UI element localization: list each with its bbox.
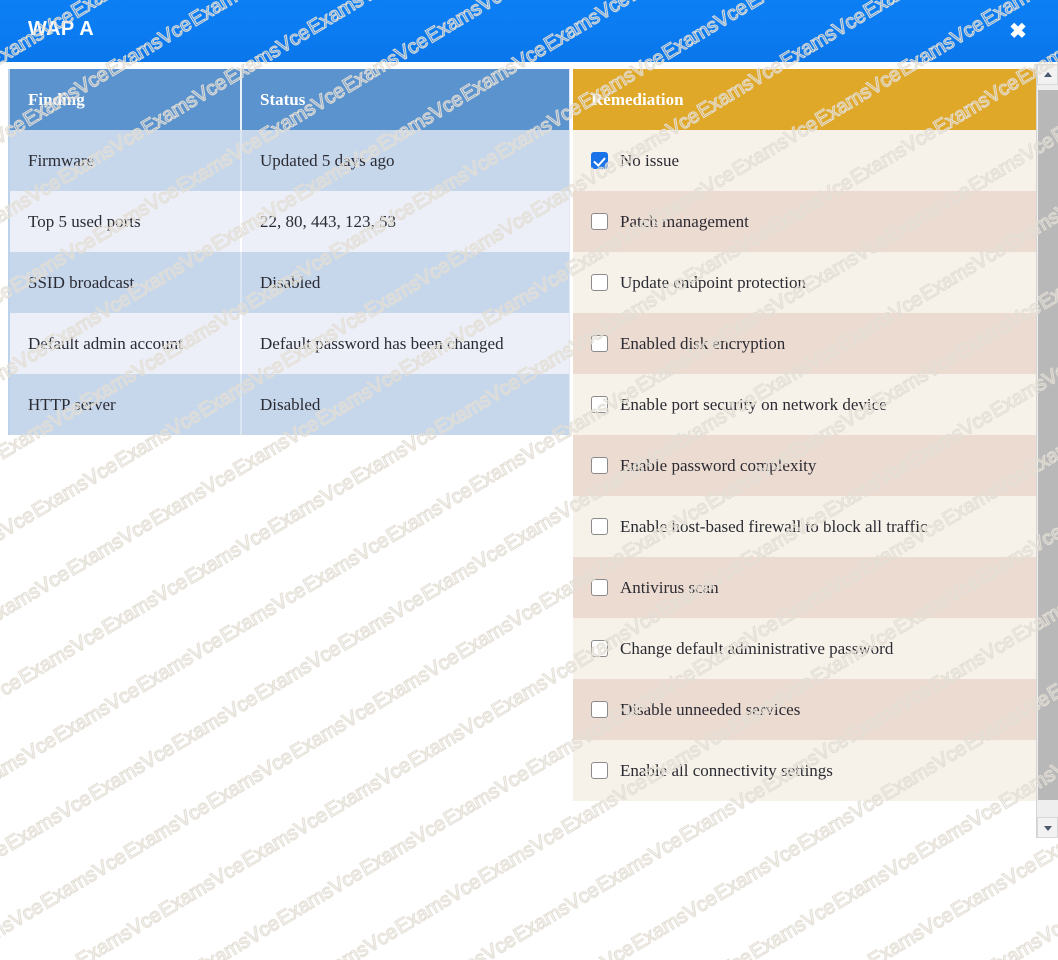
chevron-down-icon [1044, 826, 1052, 831]
findings-table-header-row: Finding Status [10, 69, 569, 130]
table-row: SSID broadcastDisabled [10, 252, 569, 313]
remediation-option-row[interactable]: Update endpoint protection [573, 252, 1036, 313]
remediation-checkbox[interactable] [591, 457, 608, 474]
remediation-option-row[interactable]: Patch management [573, 191, 1036, 252]
remediation-checkbox[interactable] [591, 396, 608, 413]
finding-cell: HTTP server [10, 374, 242, 435]
remediation-option-row[interactable]: No issue [573, 130, 1036, 191]
chevron-up-icon [1044, 72, 1052, 77]
status-cell: Disabled [242, 374, 569, 435]
table-row: Top 5 used ports22, 80, 443, 123, 53 [10, 191, 569, 252]
dialog-titlebar: WAP A ✖ [0, 0, 1058, 62]
findings-table-body: FirmwareUpdated 5 days agoTop 5 used por… [10, 130, 569, 435]
remediation-checkbox[interactable] [591, 701, 608, 718]
remediation-checkbox[interactable] [591, 213, 608, 230]
remediation-checkbox[interactable] [591, 579, 608, 596]
remediation-option-row[interactable]: Disable unneeded services [573, 679, 1036, 740]
dialog-title: WAP A [28, 18, 94, 41]
remediation-option-label: Enable password complexity [620, 456, 816, 476]
remediation-checkbox[interactable] [591, 152, 608, 169]
remediation-checkbox[interactable] [591, 640, 608, 657]
finding-cell: SSID broadcast [10, 252, 242, 313]
remediation-option-label: Enabled disk encryption [620, 334, 785, 354]
remediation-option-label: Disable unneeded services [620, 700, 800, 720]
remediation-option-label: Enable all connectivity settings [620, 761, 833, 781]
remediation-checkbox[interactable] [591, 762, 608, 779]
finding-cell: Top 5 used ports [10, 191, 242, 252]
remediation-option-row[interactable]: Enable password complexity [573, 435, 1036, 496]
scrollbar-thumb[interactable] [1038, 90, 1058, 800]
remediation-option-label: Enable host-based firewall to block all … [620, 517, 927, 537]
wap-a-dialog: WAP A ✖ Finding Status FirmwareUpdated 5… [0, 0, 1058, 838]
vertical-scrollbar[interactable] [1036, 64, 1058, 838]
remediation-option-row[interactable]: Change default administrative password [573, 618, 1036, 679]
remediation-table-header-row: Remediation [573, 69, 1036, 130]
remediation-checkbox[interactable] [591, 274, 608, 291]
remediation-option-row[interactable]: Enable all connectivity settings [573, 740, 1036, 801]
remediation-option-label: Enable port security on network device [620, 395, 887, 415]
finding-cell: Default admin account [10, 313, 242, 374]
remediation-options-list: No issuePatch managementUpdate endpoint … [573, 130, 1036, 801]
remediation-option-row[interactable]: Enabled disk encryption [573, 313, 1036, 374]
finding-cell: Firmware [10, 130, 242, 191]
close-icon[interactable]: ✖ [1005, 19, 1031, 45]
findings-table: Finding Status FirmwareUpdated 5 days ag… [8, 69, 570, 435]
remediation-checkbox[interactable] [591, 518, 608, 535]
scroll-up-button[interactable] [1037, 64, 1058, 85]
table-row: HTTP serverDisabled [10, 374, 569, 435]
status-cell: Disabled [242, 252, 569, 313]
remediation-table: Remediation No issuePatch managementUpda… [573, 69, 1036, 801]
table-row: FirmwareUpdated 5 days ago [10, 130, 569, 191]
column-header-status: Status [242, 69, 569, 130]
remediation-checkbox[interactable] [591, 335, 608, 352]
column-header-finding: Finding [10, 69, 242, 130]
table-row: Default admin accountDefault password ha… [10, 313, 569, 374]
remediation-option-label: Patch management [620, 212, 749, 232]
remediation-option-row[interactable]: Enable port security on network device [573, 374, 1036, 435]
status-cell: 22, 80, 443, 123, 53 [242, 191, 569, 252]
status-cell: Updated 5 days ago [242, 130, 569, 191]
status-cell: Default password has been changed [242, 313, 569, 374]
remediation-option-label: No issue [620, 151, 679, 171]
remediation-option-label: Change default administrative password [620, 639, 893, 659]
remediation-option-row[interactable]: Enable host-based firewall to block all … [573, 496, 1036, 557]
remediation-option-row[interactable]: Antivirus scan [573, 557, 1036, 618]
remediation-option-label: Update endpoint protection [620, 273, 806, 293]
remediation-option-label: Antivirus scan [620, 578, 719, 598]
column-header-remediation: Remediation [591, 90, 684, 110]
scroll-down-button[interactable] [1037, 817, 1058, 838]
